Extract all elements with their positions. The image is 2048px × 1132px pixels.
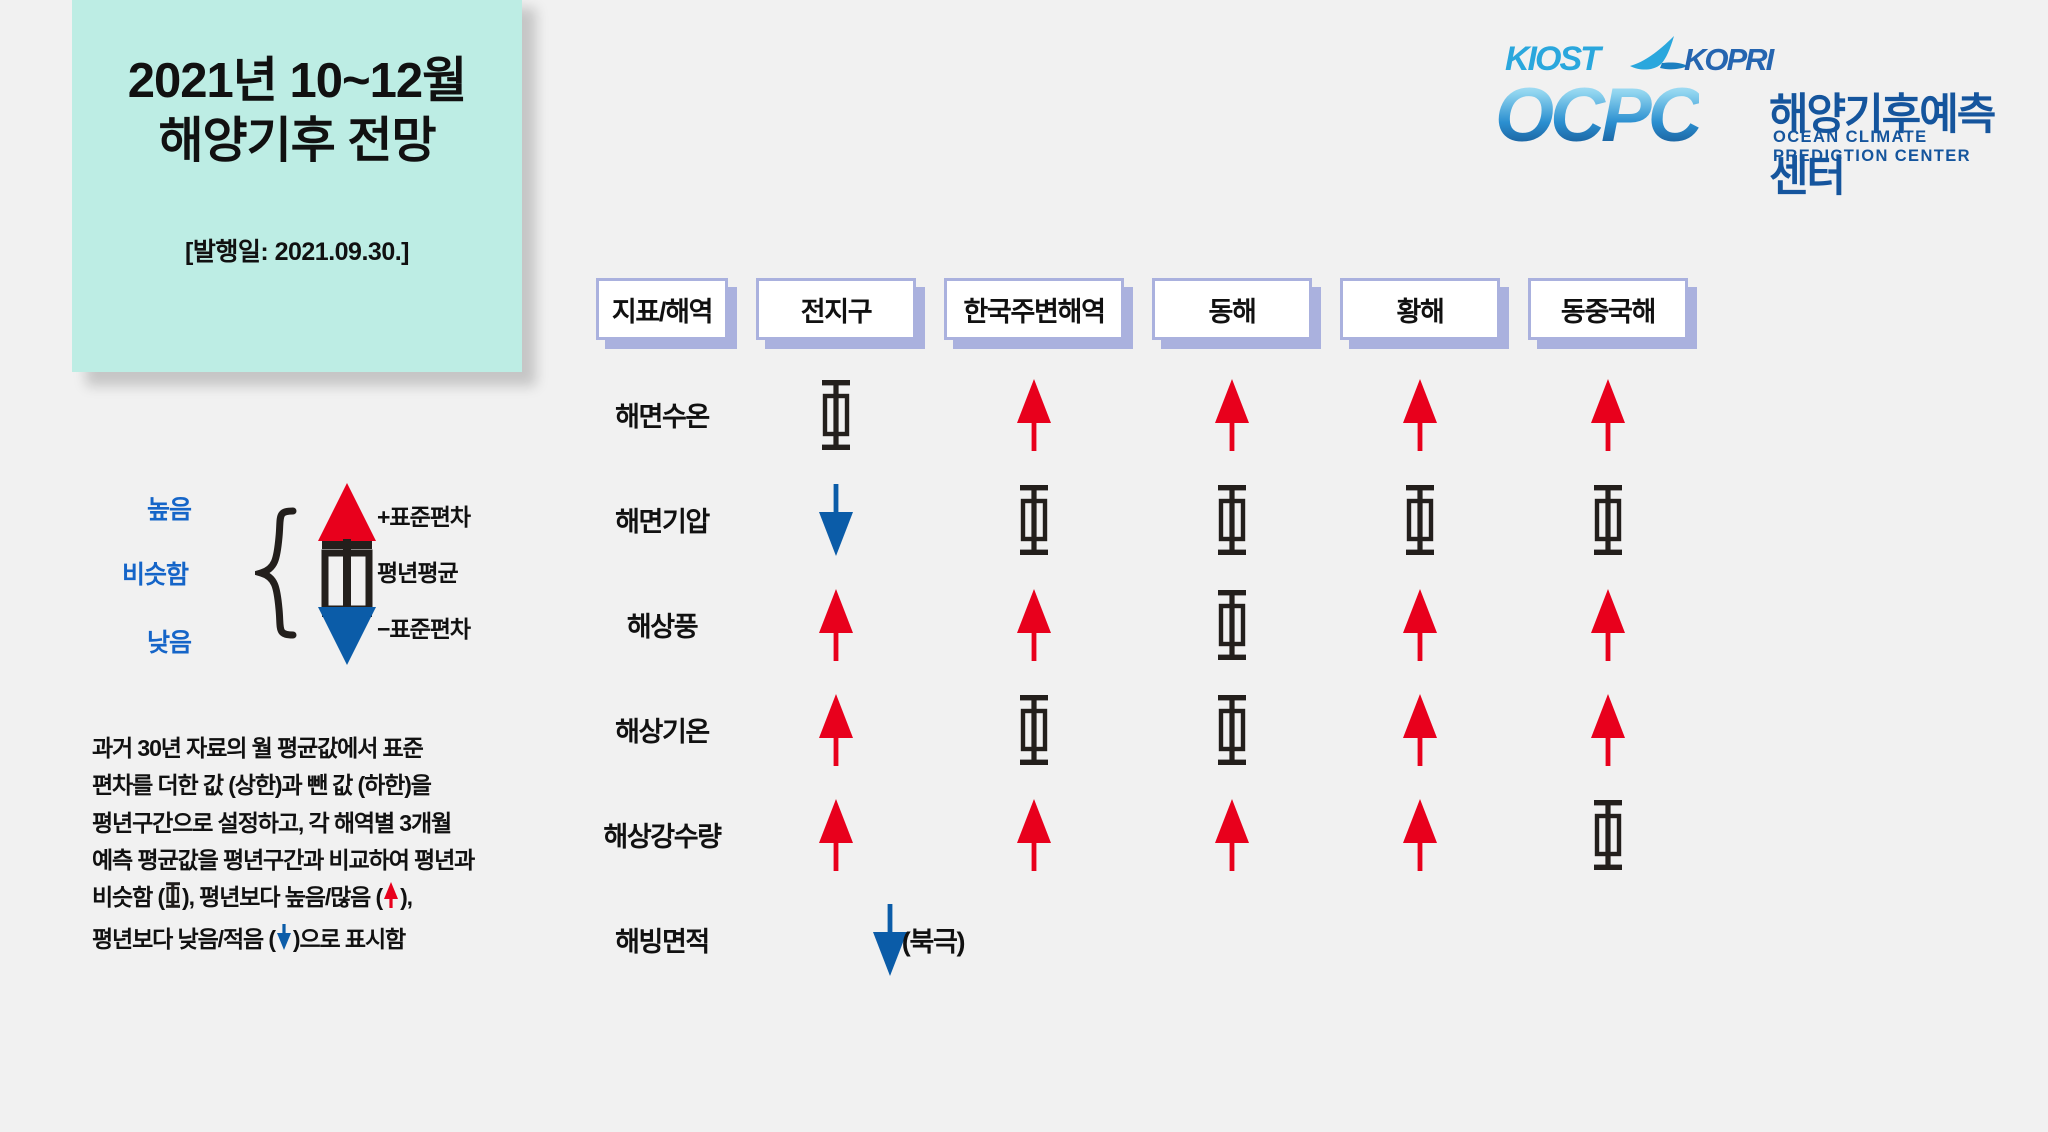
- neutral-symbol-icon: [1210, 691, 1254, 769]
- up-arrow-icon: [382, 880, 400, 921]
- note-text-similar: 비슷함 (: [92, 884, 164, 910]
- legend-label-similar: 비슷함: [122, 555, 188, 591]
- note-line-2: 편차를 더한 값 (상한)과 뺀 값 (하한)을: [92, 767, 522, 804]
- table-row: 해빙면적(북극): [596, 887, 1848, 992]
- table-body: 해면수온해면기압해상풍해상기온해상강수량해빙면적(북극): [596, 362, 1848, 992]
- issue-date: [발행일: 2021.09.30.]: [185, 232, 409, 268]
- column-header-east-sea: 동해: [1152, 278, 1312, 340]
- up-arrow-icon: [814, 586, 858, 664]
- table-cell-up: [756, 677, 916, 782]
- column-header-korea-seas: 한국주변해역: [944, 278, 1124, 340]
- table-row: 해상기온: [596, 677, 1848, 782]
- row-label: 해면기압: [596, 500, 728, 539]
- note-text-suffix: )으로 표시함: [293, 926, 405, 952]
- table-cell-up: [944, 572, 1124, 677]
- logo-name-english: OCEAN CLIMATE PREDICTION CENTER: [1773, 128, 2007, 166]
- up-arrow-icon: [1586, 376, 1630, 454]
- table-cell-up: [756, 782, 916, 887]
- page-title: 2021년 10~12월 해양기후 전망: [128, 52, 466, 172]
- note-line-6: 평년보다 낮음/적음 ()으로 표시함: [92, 921, 522, 963]
- note-line-5: 비슷함 (), 평년보다 높음/많음 (),: [92, 879, 522, 921]
- curly-brace-icon: [255, 507, 299, 644]
- up-arrow-icon: [814, 796, 858, 874]
- row-label: 해면수온: [596, 395, 728, 434]
- ocpc-acronym: OCPC: [1495, 72, 1699, 159]
- legend-right-label-plus-sd: +표준편차: [377, 498, 470, 532]
- up-arrow-icon: [814, 691, 858, 769]
- neutral-symbol-icon: [1586, 481, 1630, 559]
- table-cell-neutral: [1152, 677, 1312, 782]
- row-label: 해상강수량: [596, 815, 728, 854]
- neutral-symbol-icon: [1398, 481, 1442, 559]
- table-cell-up: [1528, 572, 1688, 677]
- table-cell-up: [756, 572, 916, 677]
- up-arrow-icon: [1210, 376, 1254, 454]
- table-cell-neutral: [944, 467, 1124, 572]
- table-cell-up: [1152, 362, 1312, 467]
- table-cell-neutral: [944, 677, 1124, 782]
- up-arrow-icon: [1210, 796, 1254, 874]
- table-row: 해상강수량: [596, 782, 1848, 887]
- symbol-legend: 높음 비슷함 낮음 +표준편차 평년평균 −표준편차: [120, 485, 540, 665]
- table-header-row: 지표/해역 전지구 한국주변해역 동해 황해 동중국해: [596, 278, 1848, 340]
- up-arrow-icon: [1398, 796, 1442, 874]
- row-label: 해상기온: [596, 710, 728, 749]
- note-line-4: 예측 평균값을 평년구간과 비교하여 평년과: [92, 842, 522, 879]
- table-cell-neutral: [1528, 467, 1688, 572]
- neutral-symbol-icon: [164, 880, 182, 921]
- up-arrow-icon: [1012, 376, 1056, 454]
- table-cell-empty: [1312, 887, 1472, 992]
- legend-label-high: 높음: [147, 490, 191, 526]
- note-line-1: 과거 30년 자료의 월 평균값에서 표준: [92, 730, 522, 767]
- table-cell-up: [1340, 362, 1500, 467]
- legend-right-label-minus-sd: −표준편차: [377, 610, 470, 644]
- up-arrow-icon: [1398, 691, 1442, 769]
- neutral-symbol-icon: [1012, 691, 1056, 769]
- logo-main: OCPC 해양기후예측센터 OCEAN CLIMATE PREDICTION C…: [1487, 78, 2007, 148]
- column-header-global: 전지구: [756, 278, 916, 340]
- table-cell-empty: [1500, 887, 1660, 992]
- row-label: 해빙면적: [596, 920, 728, 959]
- methodology-note: 과거 30년 자료의 월 평균값에서 표준 편차를 더한 값 (상한)과 뺀 값…: [92, 730, 522, 964]
- table-cell-down: (북극): [756, 887, 1076, 992]
- title-line-2: 해양기후 전망: [128, 112, 466, 172]
- up-arrow-icon: [1586, 586, 1630, 664]
- table-cell-up: [1528, 677, 1688, 782]
- legend-right-label-mean: 평년평균: [377, 554, 458, 588]
- table-cell-up: [944, 362, 1124, 467]
- column-header-yellow-sea: 황해: [1340, 278, 1500, 340]
- down-arrow-icon: [275, 922, 293, 963]
- table-cell-neutral: [1152, 467, 1312, 572]
- table-cell-up: [1340, 782, 1500, 887]
- table-cell-neutral: [1152, 572, 1312, 677]
- ocpc-logo: KIOST KOPRI OCPC 해양기후예측센터 OCEAN CLIMATE …: [1487, 38, 2007, 148]
- table-row: 해면기압: [596, 467, 1848, 572]
- row-label: 해상풍: [596, 605, 728, 644]
- table-cell-up: [1340, 572, 1500, 677]
- outlook-table: 지표/해역 전지구 한국주변해역 동해 황해 동중국해 해면수온해면기압해상풍해…: [596, 278, 1848, 992]
- table-cell-up: [1152, 782, 1312, 887]
- neutral-symbol-icon: [1210, 481, 1254, 559]
- neutral-symbol-icon: [1210, 586, 1254, 664]
- row-annotation: (북극): [902, 920, 964, 959]
- title-card: 2021년 10~12월 해양기후 전망 [발행일: 2021.09.30.]: [72, 0, 522, 372]
- up-arrow-icon: [1012, 586, 1056, 664]
- table-cell-empty: [1688, 887, 1848, 992]
- neutral-symbol-icon: [1012, 481, 1056, 559]
- table-cell-neutral: [1528, 782, 1688, 887]
- table-cell-neutral: [1340, 467, 1500, 572]
- table-cell-empty: [1104, 887, 1284, 992]
- table-row: 해상풍: [596, 572, 1848, 677]
- table-cell-up: [1340, 677, 1500, 782]
- up-arrow-icon: [1586, 691, 1630, 769]
- note-line-3: 평년구간으로 설정하고, 각 해역별 3개월: [92, 805, 522, 842]
- table-cell-neutral: [756, 362, 916, 467]
- note-text-lower: 평년보다 낮음/적음 (: [92, 926, 275, 952]
- table-cell-up: [944, 782, 1124, 887]
- table-row: 해면수온: [596, 362, 1848, 467]
- up-arrow-icon: [1012, 796, 1056, 874]
- table-cell-down: [756, 467, 916, 572]
- table-cell-up: [1528, 362, 1688, 467]
- neutral-symbol-icon: [1586, 796, 1630, 874]
- legend-label-low: 낮음: [147, 623, 191, 659]
- note-text-higher: ), 평년보다 높음/많음 (: [182, 884, 382, 910]
- up-arrow-icon: [1398, 376, 1442, 454]
- column-header-indicator: 지표/해역: [596, 278, 728, 340]
- up-arrow-icon: [1398, 586, 1442, 664]
- title-line-1: 2021년 10~12월: [128, 52, 466, 112]
- legend-range-symbol: [310, 481, 384, 672]
- column-header-east-china-sea: 동중국해: [1528, 278, 1688, 340]
- note-text-comma: ),: [400, 884, 412, 910]
- neutral-symbol-icon: [814, 376, 858, 454]
- down-arrow-icon: [814, 481, 858, 559]
